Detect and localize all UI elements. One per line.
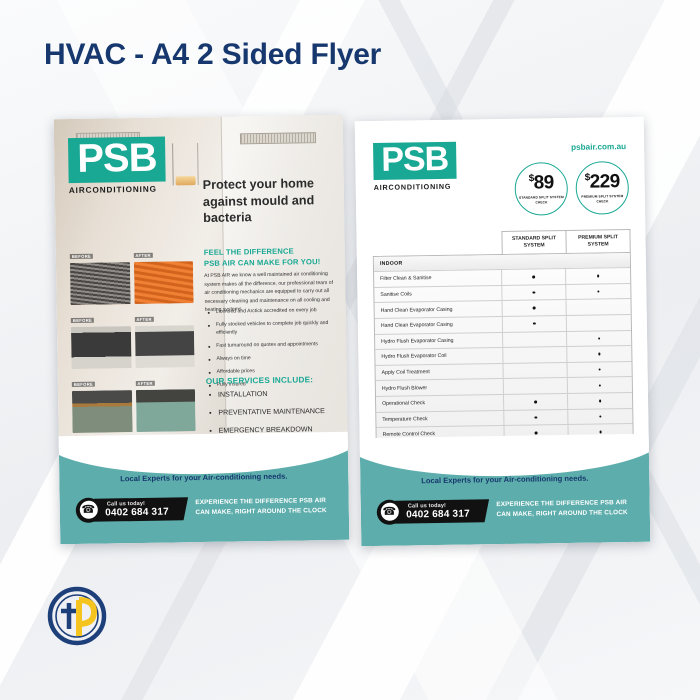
- after-label: AFTER: [133, 253, 153, 258]
- after-photo: [134, 325, 194, 368]
- phone-icon: ☎: [76, 497, 101, 522]
- before-cell: BEFORE: [70, 244, 130, 305]
- row-label: Hydro Flush Evaporator Coil: [375, 348, 503, 365]
- cell-premium: 60 MINS: [570, 543, 634, 546]
- cell-premium: [567, 331, 631, 347]
- row-label: Hand Clean Evaporator Casing: [375, 301, 503, 318]
- cell-premium: [568, 393, 632, 409]
- cell-standard: [503, 347, 567, 363]
- row-label: Sanitise Coils: [374, 286, 502, 303]
- table-group-indoor: INDOOR Filter Clean & Sanitise Sanitise …: [373, 252, 634, 444]
- row-label: Hydro Flush Blower: [376, 379, 504, 396]
- before-label: BEFORE: [71, 318, 94, 323]
- check-dot-icon: [599, 384, 601, 386]
- row-label: Operational Check: [376, 395, 504, 412]
- list-item: Fully stocked vehicles to complete job q…: [205, 320, 341, 337]
- footer-tagline: EXPERIENCE THE DIFFERENCE PSB AIR CAN MA…: [195, 496, 327, 517]
- check-dot-icon: [534, 401, 536, 403]
- cell-premium: [567, 362, 631, 378]
- front-headline: Protect your home against mould and bact…: [203, 175, 336, 227]
- cell-premium: [567, 346, 631, 362]
- pendant-light-icon: [172, 143, 199, 185]
- before-photo: [71, 326, 131, 369]
- psb-wordmark: PSB: [373, 142, 456, 181]
- row-label: Hand Clean Evaporator Casing: [375, 317, 503, 334]
- before-photo: [70, 262, 130, 305]
- cell-standard: [502, 269, 566, 285]
- phone-tag[interactable]: Call us today! 0402 684 317: [90, 497, 188, 522]
- price-badge-premium[interactable]: $229 PREMIUM SPLIT SYSTEM CHECK: [575, 161, 629, 215]
- phone-icon: ☎: [377, 499, 402, 524]
- check-dot-icon: [598, 337, 600, 339]
- price-badges: $89 STANDARD SPLIT SYSTEM CHECK $229 PRE…: [514, 161, 629, 216]
- cell-standard: [504, 394, 568, 410]
- price-value: 89: [534, 173, 554, 194]
- phone-tag[interactable]: Call us today! 0402 684 317: [391, 499, 489, 524]
- column-header-premium: PREMIUM SPLIT SYSTEM: [566, 229, 630, 253]
- photo-row: BEFORE AFTER: [71, 307, 195, 369]
- after-label: AFTER: [135, 381, 155, 386]
- cell-standard: [502, 285, 566, 301]
- check-dot-icon: [533, 323, 535, 325]
- before-cell: BEFORE: [71, 308, 131, 369]
- cell-standard: [504, 410, 568, 426]
- cell-standard: [504, 363, 568, 379]
- row-label: Apply Coil Treatment: [376, 364, 504, 381]
- psb-tagline: AIRCONDITIONING: [374, 182, 457, 192]
- services-heading: OUR SERVICES INCLUDE:: [206, 375, 313, 386]
- cell-standard: [503, 316, 567, 332]
- footer-wave: [355, 433, 651, 478]
- check-dot-icon: [532, 276, 534, 278]
- price-badge-standard[interactable]: $89 STANDARD SPLIT SYSTEM CHECK: [514, 162, 568, 216]
- price-label: STANDARD SPLIT SYSTEM CHECK: [519, 195, 564, 204]
- footer-wave: [54, 431, 350, 476]
- flyer-front-preview[interactable]: PSB AIRCONDITIONING Protect your home ag…: [54, 115, 350, 544]
- after-label: AFTER: [134, 317, 154, 322]
- footer-tagline: EXPERIENCE THE DIFFERENCE PSB AIR CAN MA…: [496, 498, 628, 519]
- list-item: INSTALLATION: [206, 389, 346, 401]
- logo-cross-t: [61, 603, 77, 629]
- cell-standard: 30MINS: [506, 544, 570, 546]
- footer-tagline-line-2: CAN MAKE, RIGHT AROUND THE CLOCK: [195, 506, 326, 518]
- check-dot-icon: [599, 415, 601, 417]
- page-title: HVAC - A4 2 Sided Flyer: [44, 38, 381, 72]
- check-dot-icon: [533, 307, 535, 309]
- photo-row: BEFORE AFTER: [70, 243, 194, 305]
- cell-premium: [566, 284, 630, 300]
- cell-standard: [503, 332, 567, 348]
- before-label: BEFORE: [72, 382, 95, 387]
- photo-row: BEFORE AFTER: [72, 371, 196, 433]
- price-label-line-2: CHECK: [581, 199, 623, 204]
- check-dot-icon: [597, 275, 599, 277]
- contact-block[interactable]: ☎ Call us today! 0402 684 317 EXPERIENCE…: [76, 488, 340, 528]
- after-cell: AFTER: [133, 243, 193, 304]
- list-item: Fast turnaround on quotes and appointmen…: [205, 341, 341, 351]
- flyer-back-preview[interactable]: PSB AIRCONDITIONING psbair.com.au $89 ST…: [355, 117, 651, 546]
- row-label: Temperature Check: [376, 411, 504, 428]
- footer-tagline-line-2: CAN MAKE, RIGHT AROUND THE CLOCK: [496, 508, 627, 520]
- before-cell: BEFORE: [72, 372, 132, 433]
- check-dot-icon: [535, 416, 537, 418]
- check-dot-icon: [599, 400, 601, 402]
- price-amount: $89: [529, 174, 554, 193]
- cell-standard: [503, 300, 567, 316]
- price-label: PREMIUM SPLIT SYSTEM CHECK: [581, 194, 623, 203]
- feel-line-2: PSB AIR CAN MAKE FOR YOU!: [204, 256, 340, 270]
- brandmark-logo[interactable]: [47, 586, 107, 646]
- list-item: Always on time: [205, 354, 341, 364]
- cell-premium: [568, 409, 632, 425]
- cell-premium: [567, 315, 631, 331]
- row-label: Hydro Flush Evaporator Casing: [375, 333, 503, 350]
- after-cell: AFTER: [135, 371, 195, 432]
- check-dot-icon: [533, 291, 535, 293]
- cell-premium: [568, 377, 632, 393]
- check-dot-icon: [599, 431, 601, 433]
- phone-number[interactable]: 0402 684 317: [406, 508, 470, 520]
- feel-the-difference-heading: FEEL THE DIFFERENCE PSB AIR CAN MAKE FOR…: [204, 245, 340, 270]
- cell-premium: [566, 268, 630, 284]
- website-url[interactable]: psbair.com.au: [571, 142, 626, 152]
- price-value: 229: [590, 171, 620, 192]
- column-header-standard: STANDARD SPLIT SYSTEM: [501, 230, 566, 254]
- psb-logo-front: PSB AIRCONDITIONING: [68, 137, 166, 195]
- psb-tagline: AIRCONDITIONING: [69, 184, 166, 195]
- list-item: PREVENTATIVE MAINTENANCE: [206, 406, 346, 418]
- after-photo: [135, 389, 195, 432]
- price-label-line-2: CHECK: [519, 200, 564, 205]
- check-dot-icon: [597, 290, 599, 292]
- price-amount: $229: [585, 172, 620, 192]
- phone-number[interactable]: 0402 684 317: [105, 506, 169, 518]
- contact-block[interactable]: ☎ Call us today! 0402 684 317 EXPERIENCE…: [377, 490, 641, 530]
- after-photo: [133, 261, 193, 304]
- before-photo: [72, 390, 132, 433]
- check-dot-icon: [598, 368, 600, 370]
- list-item: Licensed and Arctick accredited on every…: [205, 307, 341, 317]
- psb-wordmark: PSB: [68, 137, 166, 183]
- check-dot-icon: [535, 432, 537, 434]
- check-dot-icon: [598, 353, 600, 355]
- table-header-row: STANDARD SPLIT SYSTEM PREMIUM SPLIT SYST…: [501, 229, 630, 254]
- before-label: BEFORE: [70, 254, 93, 259]
- cell-standard: [504, 378, 568, 394]
- row-label: Filter Clean & Sanitise: [374, 270, 502, 287]
- cell-premium: [567, 299, 631, 315]
- after-cell: AFTER: [134, 307, 194, 368]
- psb-logo-back: PSB AIRCONDITIONING: [373, 142, 457, 193]
